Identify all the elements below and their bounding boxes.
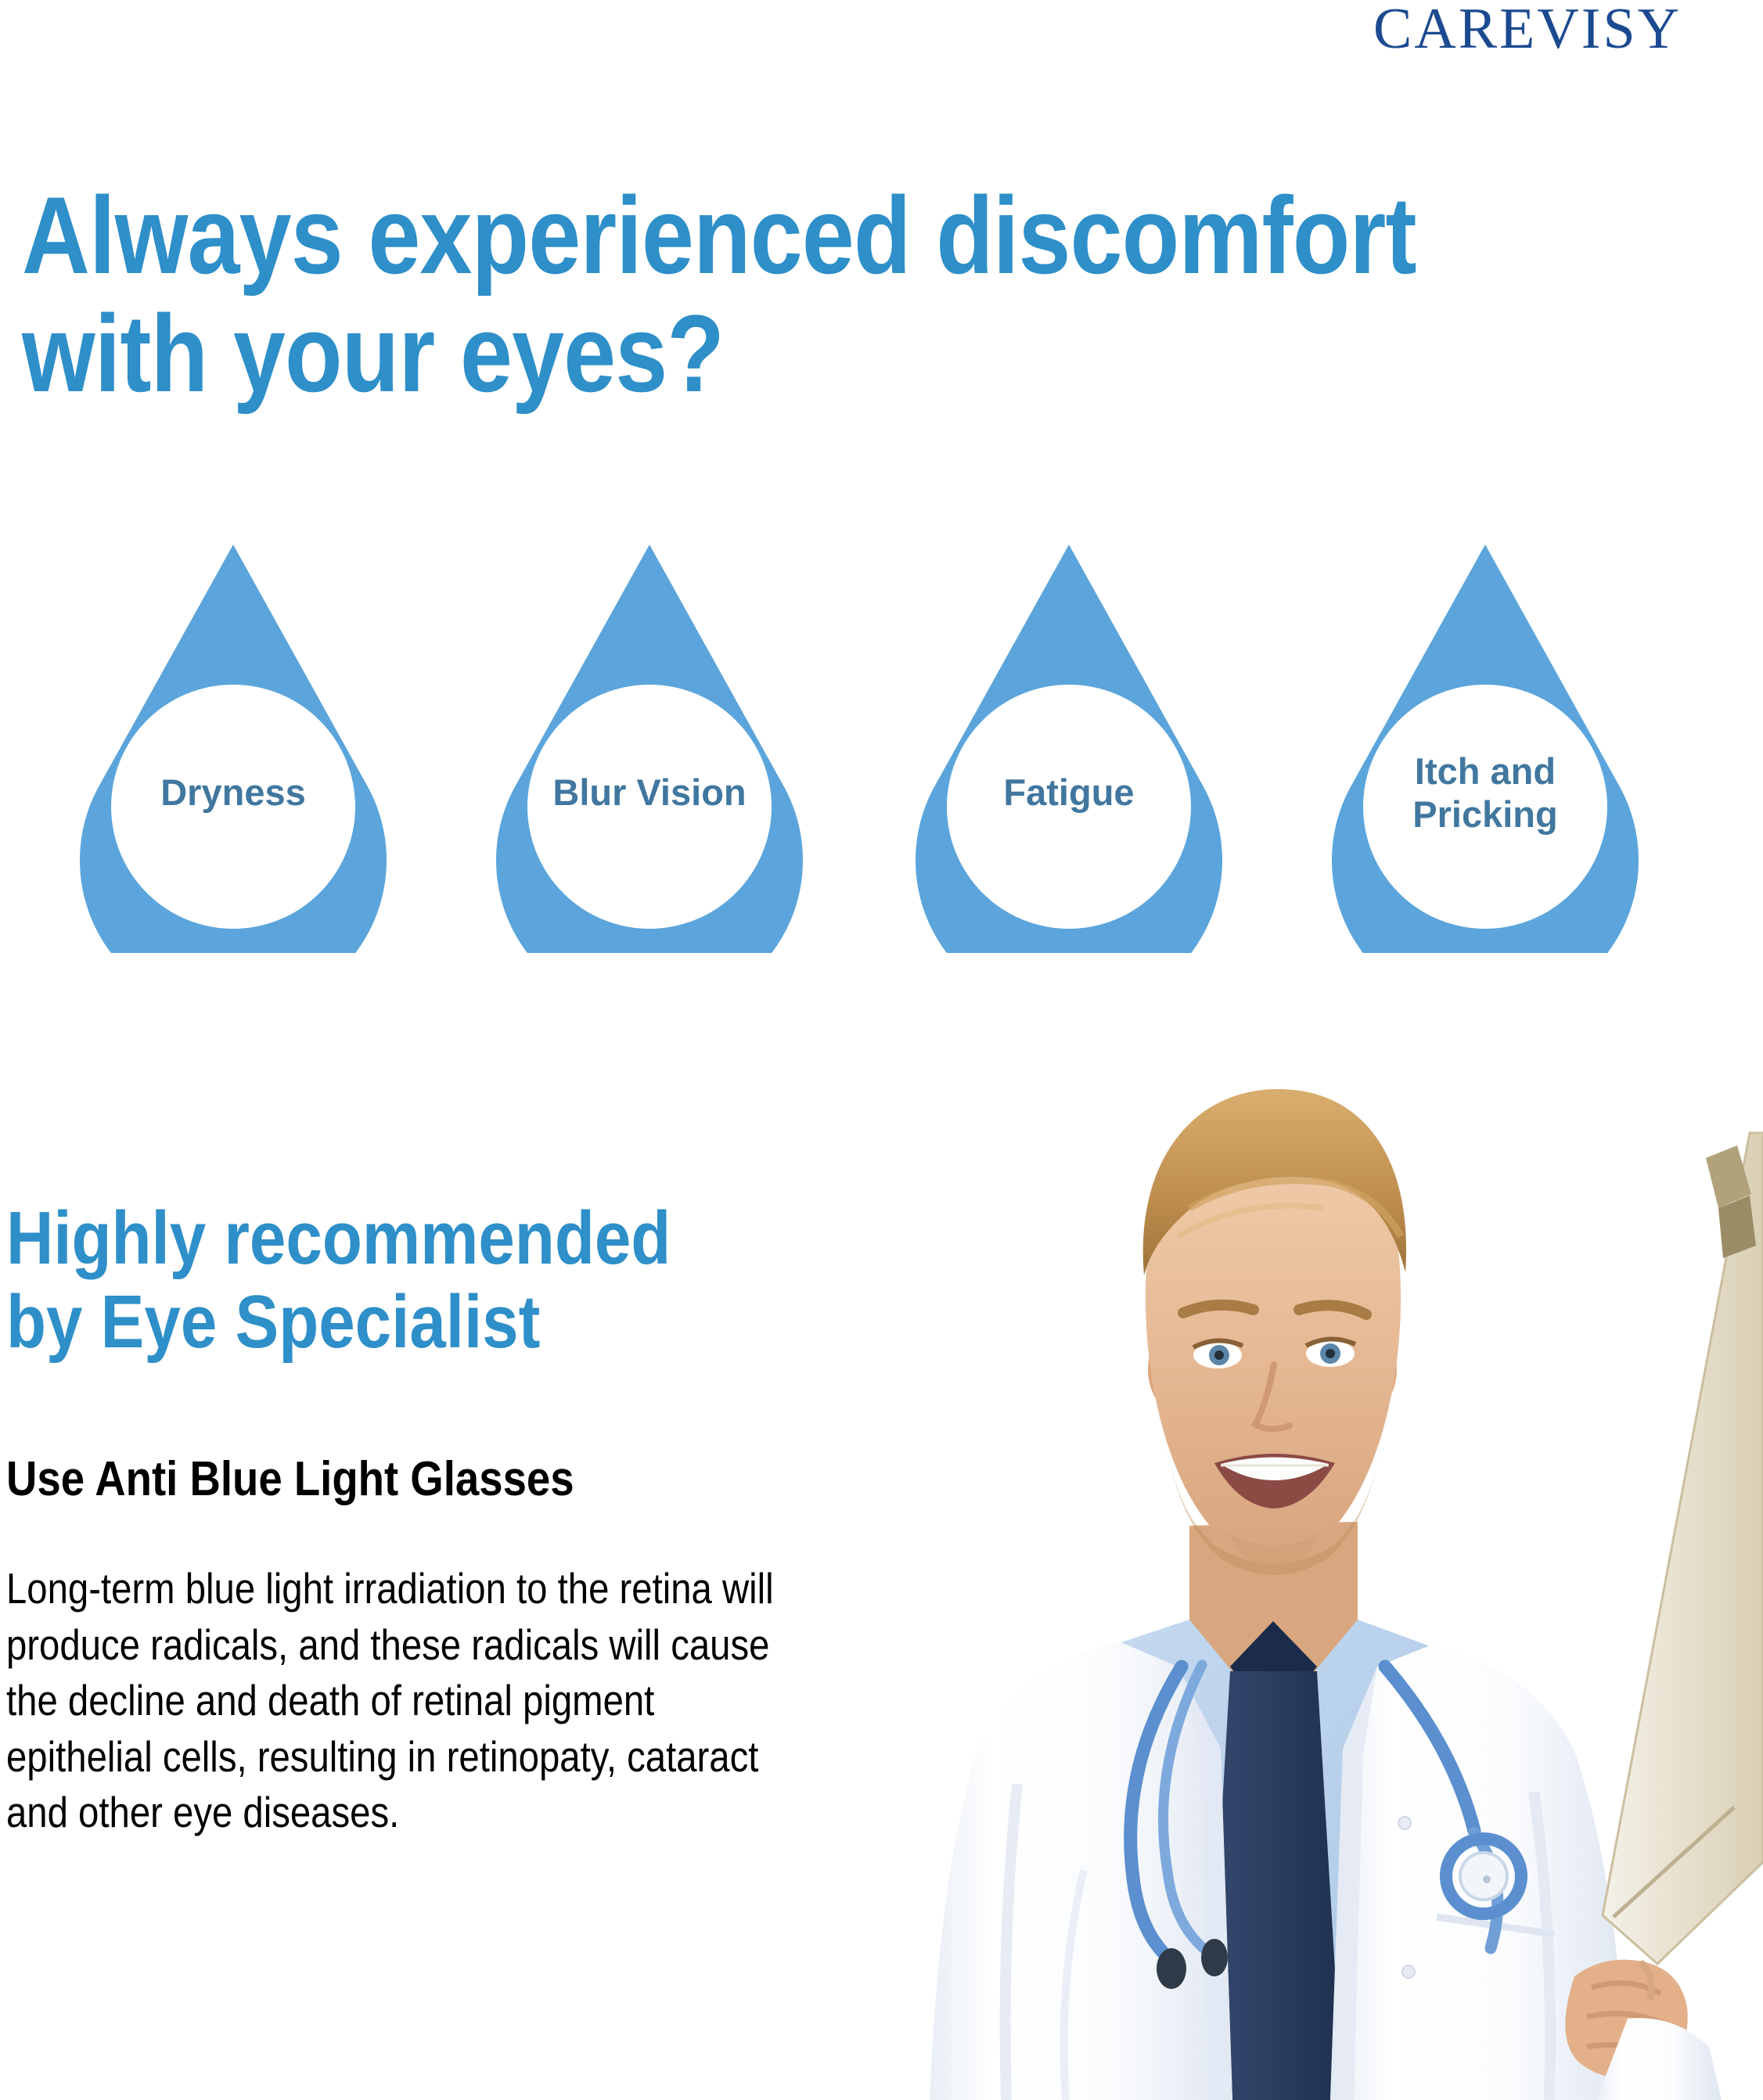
symptom-droplet-dryness[interactable]: Dryness — [56, 540, 410, 953]
symptom-droplet-row: Dryness Blur Vision Fatigue — [0, 540, 1763, 962]
recommendation-heading-line-1: Highly recommended — [6, 1196, 671, 1280]
recommendation-heading-line-2: by Eye Specialist — [6, 1281, 728, 1365]
symptom-droplet-fatigue[interactable]: Fatigue — [892, 540, 1246, 953]
body-paragraph: Long-term blue light irradiation to the … — [6, 1561, 807, 1841]
symptom-droplet-itch-and-pricking[interactable]: Itch and Pricking — [1308, 540, 1662, 953]
recommendation-heading: Highly recommended by Eye Specialist — [6, 1197, 728, 1364]
headline-line-1: Always experienced discomfort — [22, 174, 1416, 297]
poster-canvas: CAREVISY Always experienced discomfort w… — [0, 0, 1763, 2100]
section-title: Use Anti Blue Light Glasses — [6, 1451, 764, 1507]
doctor-photo — [783, 1041, 1763, 2100]
water-drop-icon — [1308, 540, 1662, 953]
brand-logo: CAREVISY — [1373, 0, 1763, 58]
page-title: Always experienced discomfort with your … — [22, 176, 1489, 412]
clipboard-icon — [1603, 1133, 1763, 1964]
water-drop-icon — [473, 540, 826, 953]
water-drop-icon — [892, 540, 1246, 953]
headline-line-2: with your eyes? — [22, 294, 1489, 412]
water-drop-icon — [56, 540, 410, 953]
doctor-illustration — [783, 1041, 1763, 2100]
symptom-droplet-blur-vision[interactable]: Blur Vision — [473, 540, 826, 953]
